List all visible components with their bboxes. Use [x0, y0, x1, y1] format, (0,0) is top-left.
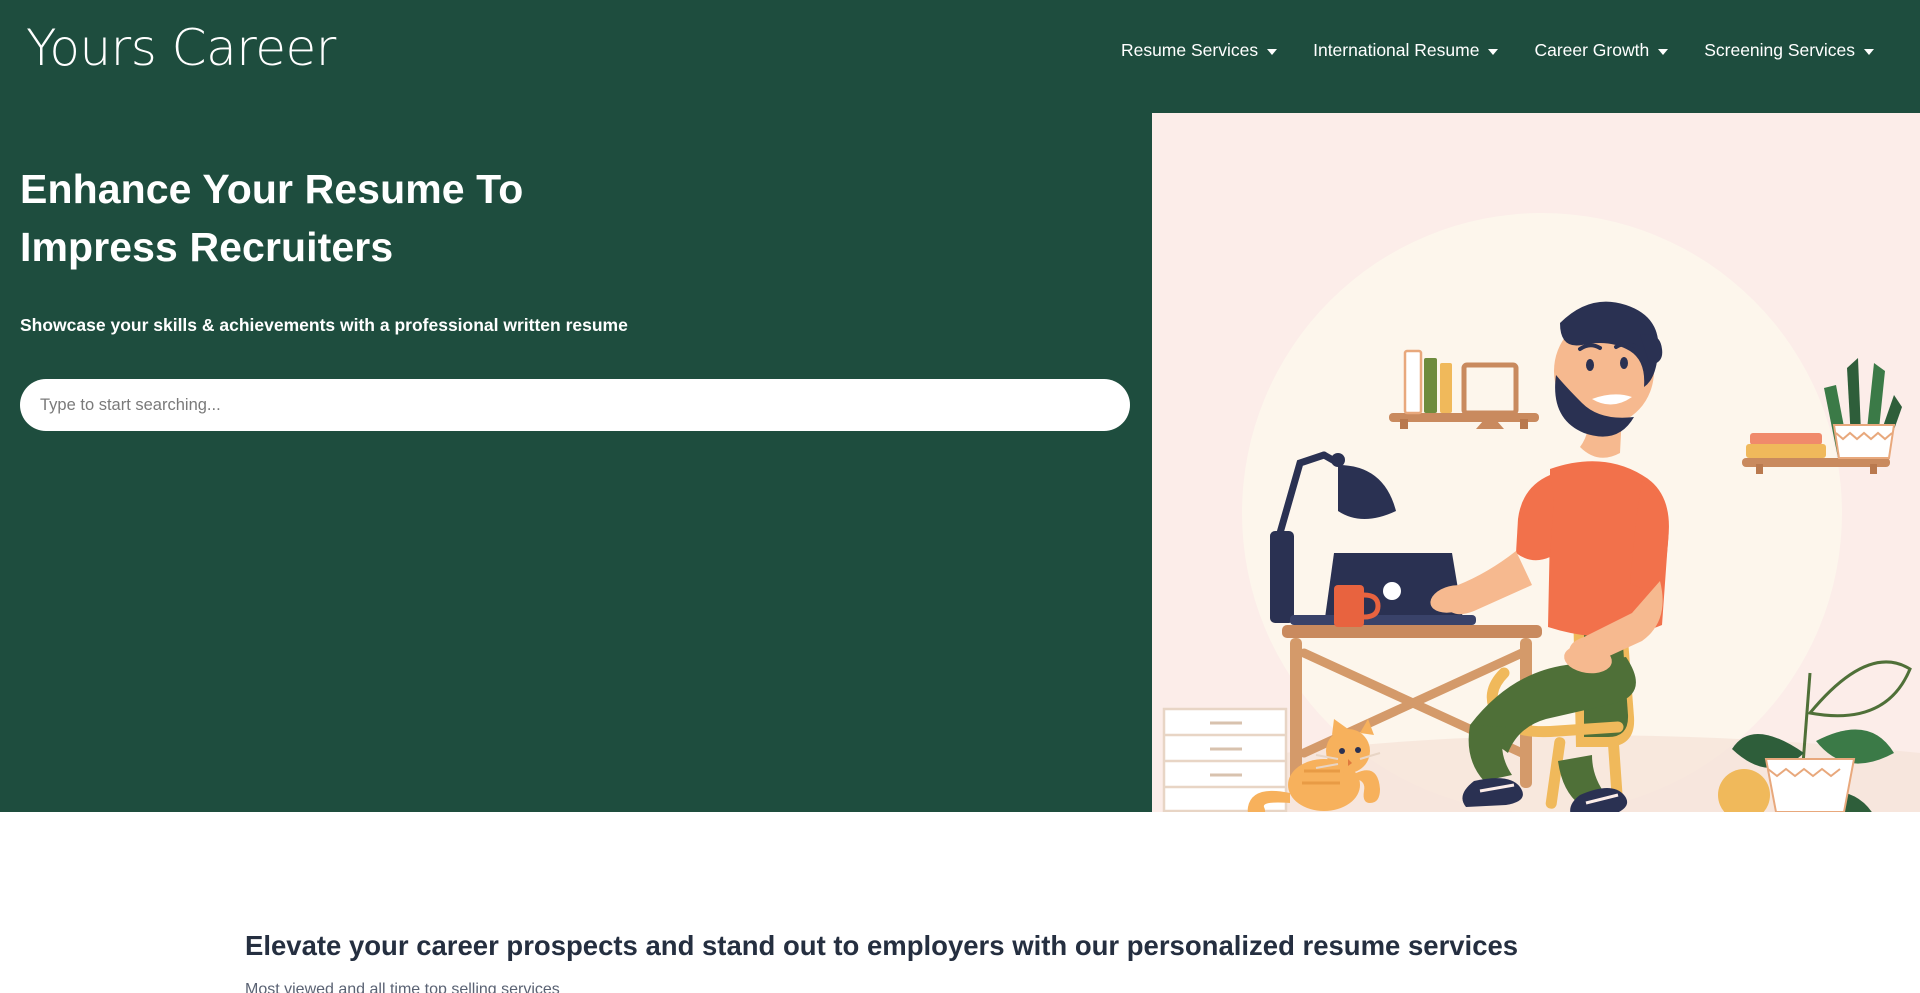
nav-item-international-resume[interactable]: International Resume: [1295, 38, 1516, 62]
hero-title-line-1: Enhance Your Resume To: [20, 160, 1020, 218]
chevron-down-icon: [1658, 49, 1668, 55]
nav-item-label: Career Growth: [1534, 38, 1649, 62]
hero-title: Enhance Your Resume To Impress Recruiter…: [20, 160, 1020, 276]
chevron-down-icon: [1488, 49, 1498, 55]
services-section-heading: Elevate your career prospects and stand …: [245, 928, 1518, 964]
services-section-subheading: Most viewed and all time top selling ser…: [245, 978, 560, 993]
man-working-at-desk-illustration: [1152, 113, 1920, 812]
nav-item-label: International Resume: [1313, 38, 1479, 62]
nav-item-resume-services[interactable]: Resume Services: [1103, 38, 1295, 62]
nav-item-screening-services[interactable]: Screening Services: [1686, 38, 1892, 62]
chevron-down-icon: [1864, 49, 1874, 55]
search-input[interactable]: [20, 379, 1130, 431]
nav-item-label: Screening Services: [1704, 38, 1855, 62]
services-section: Elevate your career prospects and stand …: [0, 812, 1920, 993]
main-navigation: Resume Services International Resume Car…: [1103, 38, 1892, 62]
hero-title-line-2: Impress Recruiters: [20, 218, 1020, 276]
page-root: Yours Career Resume Services Internation…: [0, 0, 1920, 993]
logo[interactable]: Yours Career: [26, 18, 336, 78]
nav-item-label: Resume Services: [1121, 38, 1258, 62]
hero-search-container: [20, 379, 1130, 431]
site-header: Yours Career Resume Services Internation…: [0, 0, 1920, 113]
hero-subtitle: Showcase your skills & achievements with…: [20, 313, 1020, 337]
nav-item-career-growth[interactable]: Career Growth: [1516, 38, 1686, 62]
hero-text-block: Enhance Your Resume To Impress Recruiter…: [20, 160, 1020, 337]
chevron-down-icon: [1267, 49, 1277, 55]
hero-illustration-panel: [1152, 113, 1920, 812]
